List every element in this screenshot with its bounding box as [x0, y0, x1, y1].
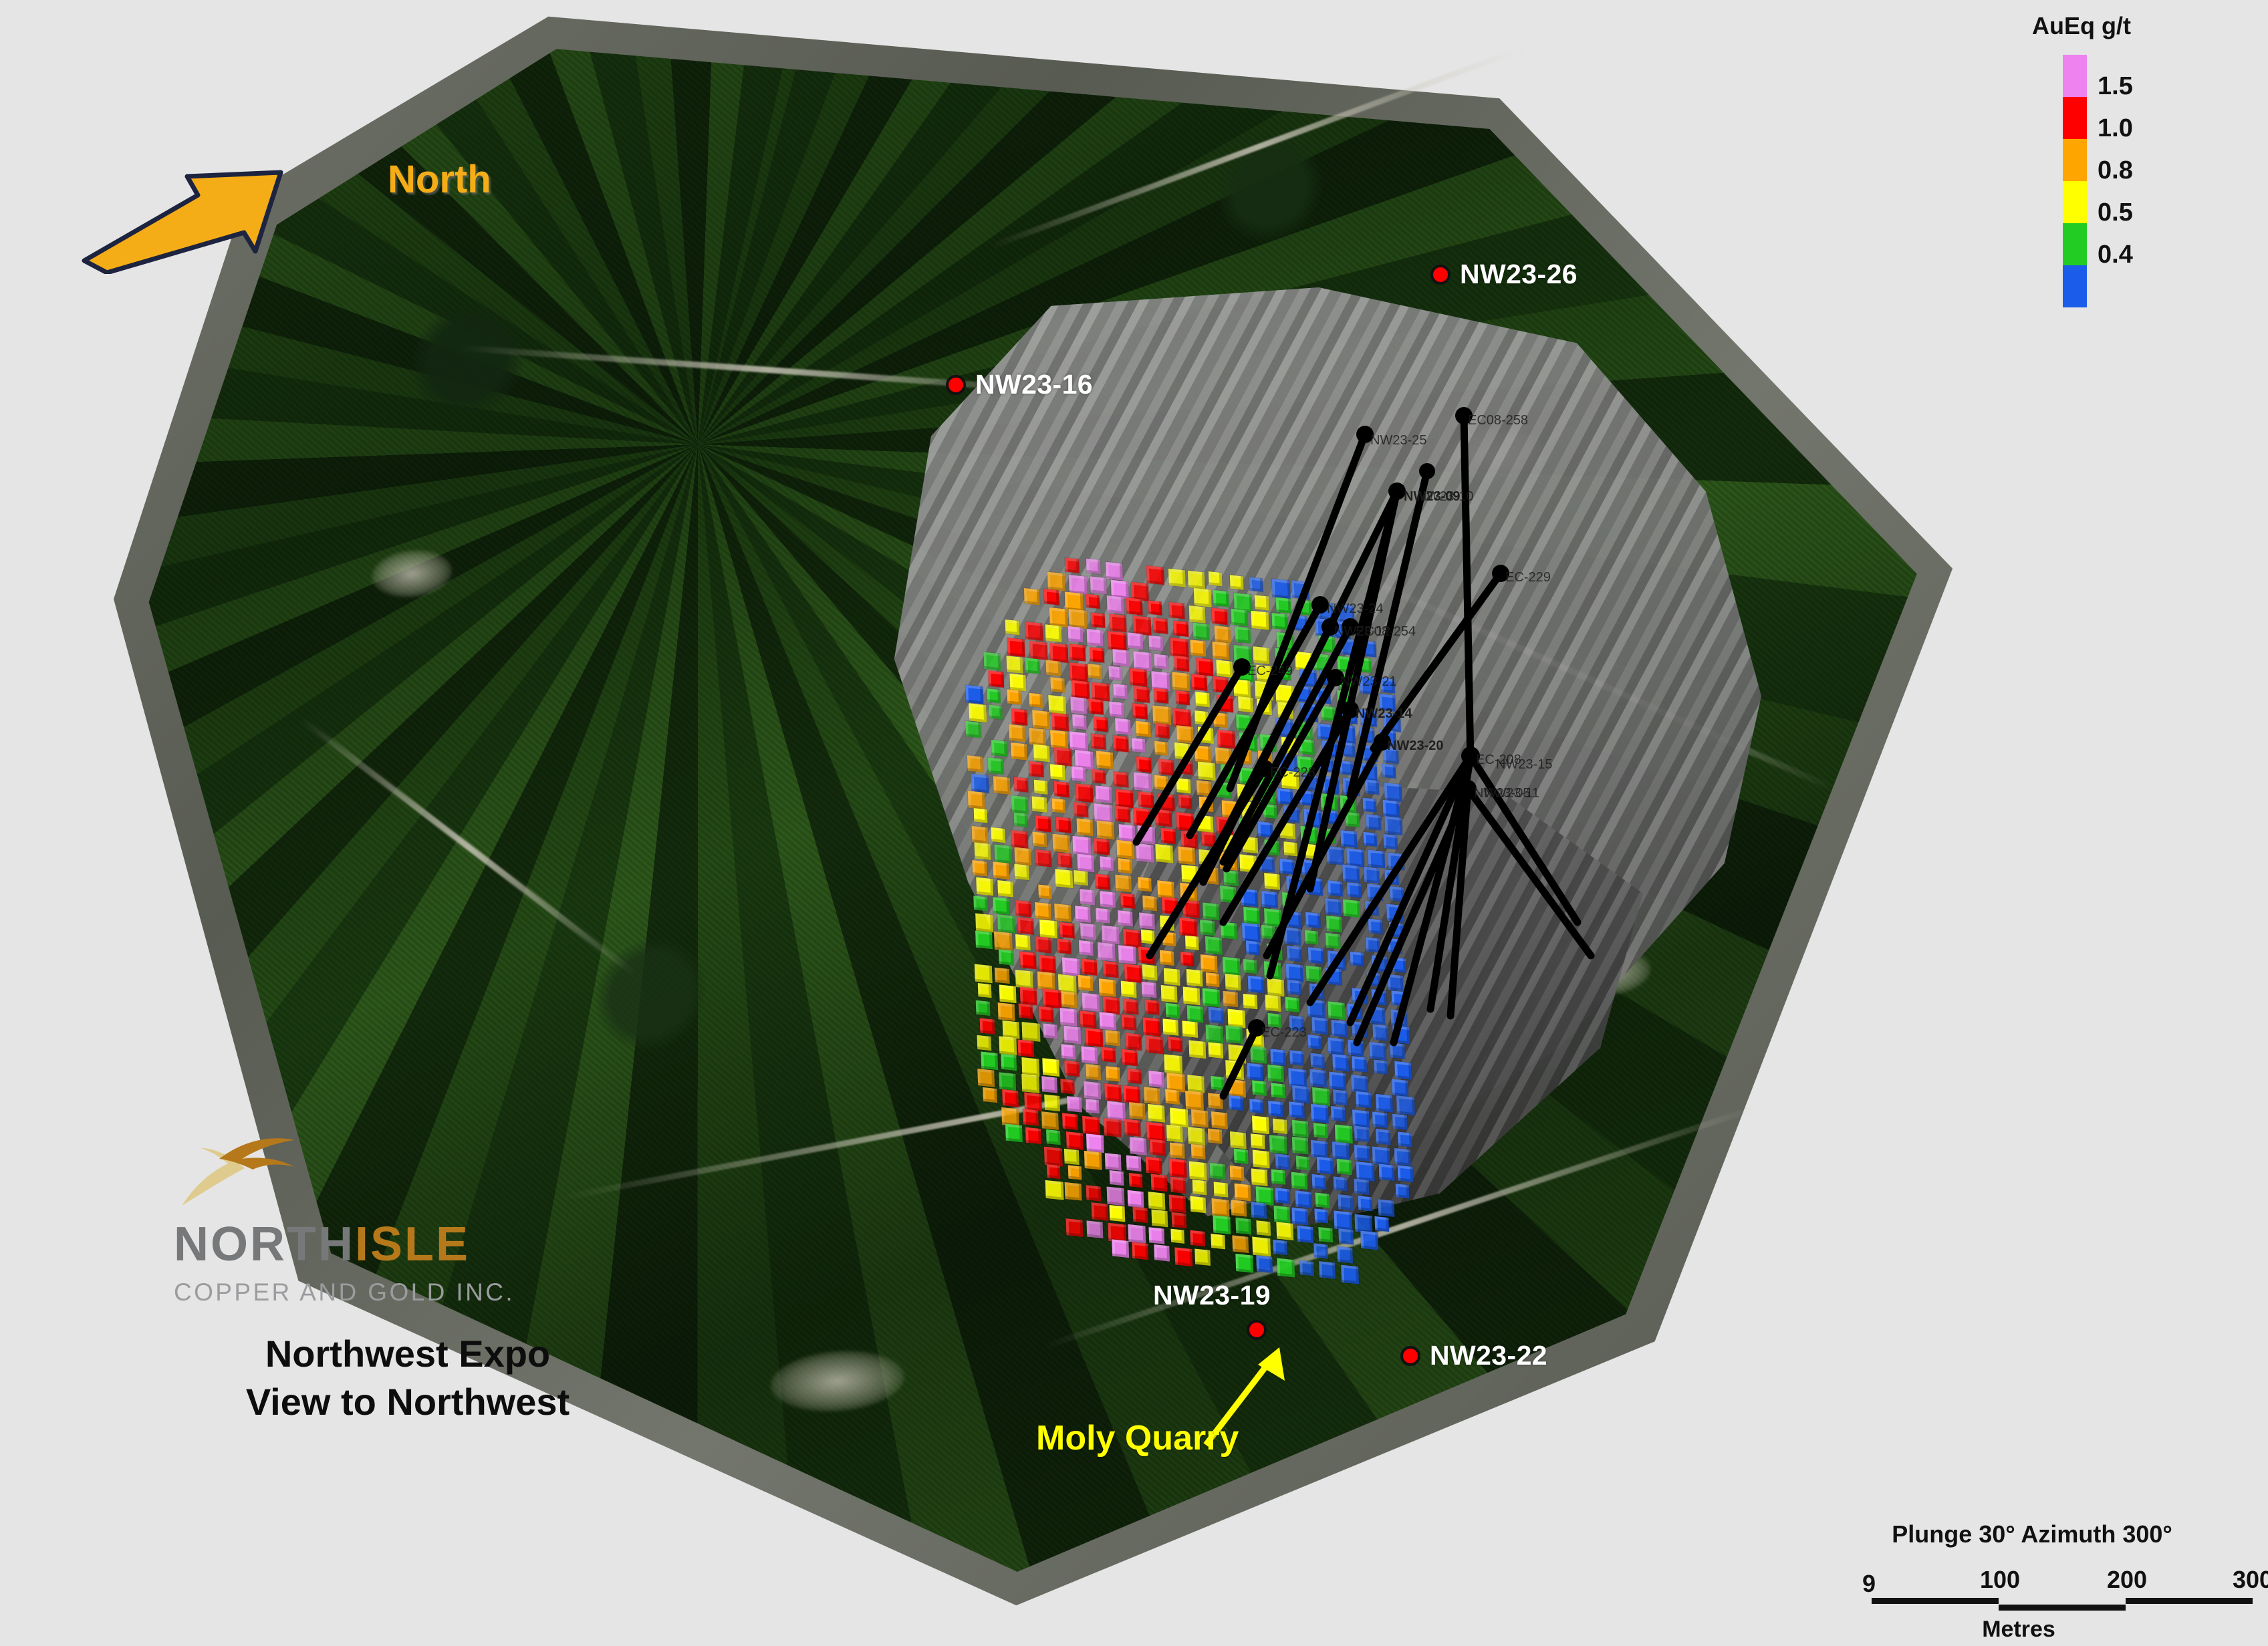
block-voxel [1268, 1065, 1285, 1083]
block-voxel [1333, 1089, 1348, 1105]
block-voxel [981, 1052, 998, 1071]
block-voxel [1306, 966, 1322, 983]
block-voxel [1261, 890, 1278, 908]
legend-tick-label: 0.4 [2098, 241, 2133, 269]
block-voxel [1148, 1071, 1164, 1088]
block-voxel [1208, 571, 1222, 586]
block-voxel [1243, 907, 1260, 925]
drillhole-label: NW23-20 [1387, 738, 1443, 754]
block-voxel [1326, 916, 1342, 933]
block-voxel [1136, 720, 1151, 736]
block-voxel [1148, 601, 1162, 615]
block-voxel [1265, 994, 1281, 1012]
block-voxel [1215, 781, 1231, 799]
block-voxel [1042, 1058, 1059, 1077]
block-voxel [991, 740, 1007, 757]
block-voxel [1035, 936, 1051, 954]
block-voxel [1169, 602, 1185, 620]
block-voxel [1142, 1017, 1160, 1037]
block-voxel [1196, 815, 1213, 833]
block-voxel [1199, 796, 1214, 811]
north-arrow-icon [80, 160, 287, 274]
legend-entry: 0.8 [2063, 139, 2087, 181]
block-voxel [1193, 623, 1210, 641]
block-voxel [1287, 980, 1302, 995]
block-voxel [1231, 609, 1247, 627]
block-voxel [1050, 730, 1068, 749]
block-voxel [1259, 855, 1275, 873]
block-voxel [1290, 1050, 1305, 1065]
block-voxel [1096, 873, 1111, 889]
block-voxel [1142, 896, 1157, 911]
block-voxel [1337, 724, 1356, 744]
block-voxel [1118, 858, 1133, 873]
block-voxel [1014, 812, 1028, 827]
block-voxel [1046, 660, 1061, 676]
block-voxel [1132, 1206, 1148, 1222]
block-voxel [1061, 1079, 1076, 1095]
block-voxel [1043, 1023, 1057, 1039]
block-voxel [1086, 1099, 1100, 1113]
block-voxel [1326, 846, 1344, 865]
block-voxel [1319, 1261, 1336, 1279]
block-voxel [1024, 588, 1040, 605]
block-voxel [1267, 943, 1283, 960]
block-voxel [1113, 771, 1128, 787]
block-voxel [1372, 1147, 1390, 1166]
block-voxel [975, 842, 991, 860]
block-voxel [1328, 1037, 1344, 1055]
block-voxel [1299, 1260, 1314, 1276]
block-voxel [1315, 618, 1333, 637]
block-voxel [1316, 1156, 1333, 1174]
drillhole-label: NW23-21 [1340, 674, 1396, 690]
block-voxel [978, 983, 992, 998]
block-voxel [1368, 850, 1385, 869]
block-voxel [1136, 843, 1154, 863]
block-voxel [1241, 889, 1258, 908]
block-voxel [1326, 968, 1342, 986]
block-voxel [1311, 1174, 1326, 1190]
block-voxel [1205, 1024, 1223, 1044]
block-voxel [1107, 1186, 1125, 1206]
block-voxel [1094, 838, 1110, 855]
block-voxel [1086, 1133, 1104, 1153]
block-voxel [1080, 923, 1096, 940]
block-voxel [1151, 1174, 1168, 1192]
block-voxel [1390, 886, 1404, 902]
block-voxel [1283, 841, 1297, 856]
block-voxel [1091, 613, 1106, 628]
block-voxel [999, 1072, 1016, 1091]
block-voxel [1121, 981, 1137, 998]
block-voxel [984, 652, 1001, 670]
block-voxel [1398, 1165, 1414, 1182]
block-voxel [1282, 892, 1298, 910]
block-voxel [1086, 559, 1101, 574]
block-voxel [1393, 1026, 1410, 1045]
block-voxel [1313, 654, 1331, 672]
block-voxel [1352, 1056, 1368, 1072]
block-voxel [1005, 1123, 1023, 1142]
block-voxel [1096, 751, 1114, 770]
block-voxel [1276, 597, 1291, 613]
block-voxel [1035, 815, 1051, 833]
block-voxel [999, 984, 1016, 1003]
block-voxel [1058, 852, 1073, 867]
scale-segment [2126, 1598, 2253, 1604]
block-voxel [1208, 1093, 1223, 1109]
block-voxel [1263, 804, 1277, 819]
block-voxel [1341, 742, 1356, 757]
block-voxel [1084, 1151, 1102, 1170]
scale-tick-label: 9 [1862, 1570, 1876, 1598]
block-voxel [1251, 1202, 1267, 1219]
block-voxel [977, 1069, 995, 1087]
brand-wordmark-first: NORTH [174, 1218, 355, 1271]
block-voxel [1179, 918, 1197, 937]
block-voxel [1208, 1006, 1224, 1024]
block-voxel [1334, 1210, 1352, 1230]
drillhole-label: EC-249 [1247, 664, 1293, 679]
block-voxel [987, 757, 1003, 775]
block-voxel [1132, 1242, 1148, 1260]
block-voxel [1192, 1180, 1207, 1195]
block-voxel [1342, 864, 1360, 883]
block-voxel [1351, 1075, 1368, 1093]
block-voxel [1352, 1021, 1367, 1037]
block-voxel [1225, 974, 1241, 991]
block-voxel [1141, 929, 1155, 944]
block-voxel [1252, 1116, 1269, 1135]
block-voxel [1285, 997, 1299, 1012]
northisle-swoosh-icon [180, 1136, 341, 1210]
collar-marker[interactable]: NW23-16 [946, 369, 1093, 400]
block-voxel [1182, 900, 1200, 918]
block-voxel [1087, 1221, 1104, 1239]
block-voxel [1043, 589, 1059, 605]
block-voxel [1257, 1220, 1271, 1236]
block-voxel [1307, 1035, 1321, 1049]
block-voxel [1080, 889, 1096, 905]
block-voxel [1185, 1091, 1204, 1111]
block-voxel [1223, 991, 1239, 1007]
block-voxel [1050, 677, 1065, 692]
block-voxel [1124, 1085, 1141, 1104]
block-voxel [1390, 1043, 1405, 1059]
block-voxel [1014, 864, 1029, 880]
block-voxel [1118, 945, 1136, 964]
block-voxel [1067, 1096, 1082, 1112]
block-voxel [1325, 898, 1342, 916]
block-voxel [1011, 742, 1027, 761]
block-voxel [1223, 834, 1240, 853]
block-voxel [1255, 680, 1273, 700]
block-voxel [1039, 920, 1057, 939]
block-voxel [1086, 1064, 1102, 1080]
block-voxel [1003, 1089, 1019, 1107]
block-voxel [1173, 621, 1188, 637]
block-voxel [1232, 1235, 1249, 1253]
block-voxel [1069, 731, 1088, 751]
block-voxel [1185, 935, 1199, 950]
block-voxel [1366, 937, 1380, 952]
block-voxel [1065, 1061, 1080, 1077]
block-voxel [1160, 985, 1177, 1003]
block-voxel [1023, 1109, 1039, 1127]
block-voxel [971, 826, 988, 844]
block-voxel [1215, 626, 1231, 644]
block-voxel [1077, 819, 1094, 837]
block-voxel [1182, 865, 1199, 883]
block-voxel [1372, 1112, 1388, 1128]
block-voxel [1191, 674, 1207, 691]
block-voxel [1394, 1148, 1411, 1166]
drillhole-label: EC-228 [1270, 765, 1315, 781]
block-voxel [1102, 961, 1118, 978]
block-voxel [1142, 964, 1158, 980]
block-voxel [1042, 989, 1061, 1009]
brand-wordmark: NORTHISLE [174, 1217, 682, 1272]
block-voxel [1129, 1102, 1146, 1120]
block-voxel [1118, 910, 1133, 926]
block-voxel [1311, 1104, 1329, 1123]
block-voxel [999, 1036, 1017, 1055]
block-voxel [1113, 649, 1130, 667]
scale-units-label: Metres [1778, 1617, 2259, 1643]
block-voxel [1256, 1255, 1273, 1273]
block-voxel [1385, 816, 1403, 835]
block-voxel [1384, 783, 1402, 802]
block-voxel [1091, 734, 1106, 750]
block-voxel [1059, 922, 1075, 938]
collar-dot-icon [946, 375, 966, 395]
block-voxel [967, 755, 983, 773]
block-voxel [1246, 940, 1260, 955]
block-voxel [1126, 597, 1143, 615]
block-voxel [1090, 576, 1107, 594]
block-voxel [1288, 1068, 1307, 1088]
block-voxel [1229, 1095, 1243, 1111]
block-voxel [1160, 950, 1174, 966]
block-voxel [1104, 1083, 1122, 1102]
block-voxel [1096, 908, 1110, 923]
block-voxel [1331, 1106, 1346, 1121]
block-voxel [1264, 873, 1280, 890]
block-voxel [1011, 830, 1029, 849]
drillhole-label: NW23-10 [1417, 489, 1473, 505]
block-voxel [1188, 1127, 1205, 1146]
brand-tagline: COPPER AND GOLD INC. [174, 1278, 682, 1307]
collar-dot-icon [1400, 1346, 1420, 1366]
block-voxel [1394, 1061, 1412, 1079]
block-voxel [1070, 696, 1087, 714]
block-voxel [1199, 849, 1214, 865]
block-voxel [1124, 998, 1139, 1014]
block-voxel [1145, 999, 1160, 1014]
drillhole-label: NW23-11 [1484, 786, 1539, 801]
block-voxel [1243, 836, 1259, 853]
block-voxel [1092, 769, 1106, 784]
block-voxel [1196, 658, 1213, 677]
block-voxel [1221, 885, 1237, 904]
block-voxel [1086, 1185, 1102, 1201]
block-voxel [1191, 1109, 1209, 1128]
block-voxel [1189, 605, 1206, 624]
block-voxel [1126, 1155, 1142, 1172]
block-voxel [1052, 834, 1070, 853]
block-voxel [1155, 723, 1170, 738]
block-voxel [1130, 668, 1147, 686]
block-voxel [1347, 1003, 1362, 1019]
block-voxel [1273, 1239, 1287, 1254]
block-voxel [1376, 1129, 1391, 1145]
block-voxel [1138, 946, 1155, 964]
legend-entry: 0.4 [2063, 223, 2087, 265]
block-voxel [1115, 718, 1131, 736]
block-voxel [1354, 1144, 1370, 1161]
figure-canvas: EC08-258NW23-25NW23-09NW23-10EC-229NW23-… [0, 0, 2268, 1646]
block-voxel [1239, 818, 1253, 833]
block-voxel [1235, 1218, 1251, 1235]
block-voxel [1165, 1003, 1180, 1018]
block-voxel [1154, 654, 1168, 669]
block-voxel [1345, 812, 1360, 827]
block-voxel [1271, 1170, 1286, 1185]
block-voxel [1358, 1196, 1373, 1211]
block-voxel [1025, 658, 1041, 674]
block-voxel [1390, 1009, 1407, 1027]
block-voxel [1164, 1054, 1182, 1074]
company-logo: NORTHISLE COPPER AND GOLD INC. [174, 1136, 682, 1307]
block-voxel [1068, 1165, 1082, 1180]
block-voxel [1230, 1165, 1245, 1181]
legend-entry: 1.5 [2063, 55, 2087, 97]
block-voxel [1187, 1005, 1204, 1023]
block-voxel [1017, 917, 1034, 935]
block-voxel [1085, 1028, 1103, 1047]
block-voxel [975, 964, 993, 983]
block-voxel [1178, 847, 1195, 865]
block-voxel [1074, 802, 1088, 817]
block-voxel [1338, 1194, 1354, 1210]
block-voxel [1163, 1018, 1179, 1036]
block-voxel [1200, 920, 1215, 936]
block-voxel [1297, 1226, 1313, 1244]
view-orientation-label: Plunge 30° Azimuth 300° [1805, 1520, 2259, 1548]
block-voxel [1285, 963, 1303, 982]
block-voxel [1220, 851, 1238, 871]
block-voxel [1368, 918, 1383, 934]
block-voxel [1307, 999, 1325, 1018]
block-voxel [1250, 1046, 1267, 1064]
block-voxel [1198, 761, 1216, 781]
block-voxel [1109, 701, 1124, 717]
block-voxel [1238, 696, 1253, 712]
block-voxel [1180, 831, 1198, 849]
brand-wordmark-accent: ISLE [355, 1218, 470, 1271]
block-voxel [1371, 955, 1387, 972]
collar-marker[interactable]: NW23-22 [1400, 1340, 1547, 1371]
block-voxel [1339, 1228, 1354, 1244]
block-voxel [1213, 1182, 1228, 1197]
block-voxel [1168, 1037, 1182, 1052]
block-voxel [1077, 854, 1094, 873]
block-voxel [1251, 1133, 1265, 1149]
block-voxel [1082, 1047, 1098, 1065]
block-voxel [983, 1087, 997, 1103]
block-voxel [1221, 764, 1238, 783]
block-voxel [1047, 571, 1065, 591]
block-voxel [1116, 875, 1132, 893]
block-voxel [975, 931, 993, 950]
block-voxel [1236, 714, 1253, 732]
block-voxel [1156, 844, 1174, 863]
block-voxel [1366, 814, 1381, 830]
block-voxel [965, 721, 981, 738]
block-voxel [1223, 870, 1239, 886]
legend-swatch [2063, 181, 2087, 223]
block-voxel [1170, 1177, 1186, 1194]
block-voxel [1388, 974, 1404, 992]
block-voxel [1356, 1091, 1372, 1109]
block-voxel [1398, 1132, 1412, 1147]
drillhole-label: EC08-258 [1468, 413, 1528, 428]
block-voxel [1124, 1119, 1141, 1137]
collar-marker[interactable]: NW23-26 [1430, 259, 1578, 290]
block-voxel [1176, 725, 1194, 744]
block-voxel [1152, 705, 1171, 725]
block-voxel [1106, 595, 1124, 614]
block-voxel [1129, 1173, 1143, 1188]
block-voxel [1106, 562, 1123, 581]
block-voxel [1087, 629, 1104, 647]
block-voxel [974, 808, 988, 823]
block-voxel [1375, 1216, 1390, 1232]
block-voxel [1305, 844, 1320, 859]
block-voxel [1041, 1111, 1059, 1130]
collar-label-text: NW23-22 [1430, 1340, 1547, 1371]
block-voxel [1072, 714, 1087, 730]
block-voxel [1295, 1191, 1311, 1209]
block-voxel [1213, 712, 1228, 728]
block-voxel [993, 897, 1009, 915]
block-voxel [1188, 571, 1205, 589]
block-voxel [1205, 936, 1222, 954]
legend: AuEq g/t 1.51.00.80.50.4 [2012, 12, 2266, 307]
block-voxel [1392, 1079, 1408, 1097]
block-voxel [1305, 877, 1323, 896]
block-voxel [1203, 988, 1221, 1007]
block-voxel [1257, 699, 1272, 715]
block-voxel [1001, 1054, 1017, 1071]
drillhole-label: EC-223 [1261, 1025, 1307, 1041]
block-voxel [1217, 694, 1233, 712]
block-voxel [1213, 1215, 1231, 1234]
block-voxel [1075, 906, 1091, 924]
block-voxel [1360, 728, 1375, 744]
block-voxel [1326, 933, 1341, 949]
block-voxel [1277, 1258, 1295, 1278]
block-voxel [1243, 993, 1258, 1008]
block-voxel [1211, 608, 1227, 626]
legend-tick-label: 0.8 [2098, 156, 2133, 185]
block-voxel [993, 776, 1011, 795]
block-voxel [1139, 912, 1155, 930]
block-voxel [1178, 795, 1192, 809]
scale-segment [1999, 1605, 2126, 1611]
block-voxel [1132, 703, 1148, 719]
